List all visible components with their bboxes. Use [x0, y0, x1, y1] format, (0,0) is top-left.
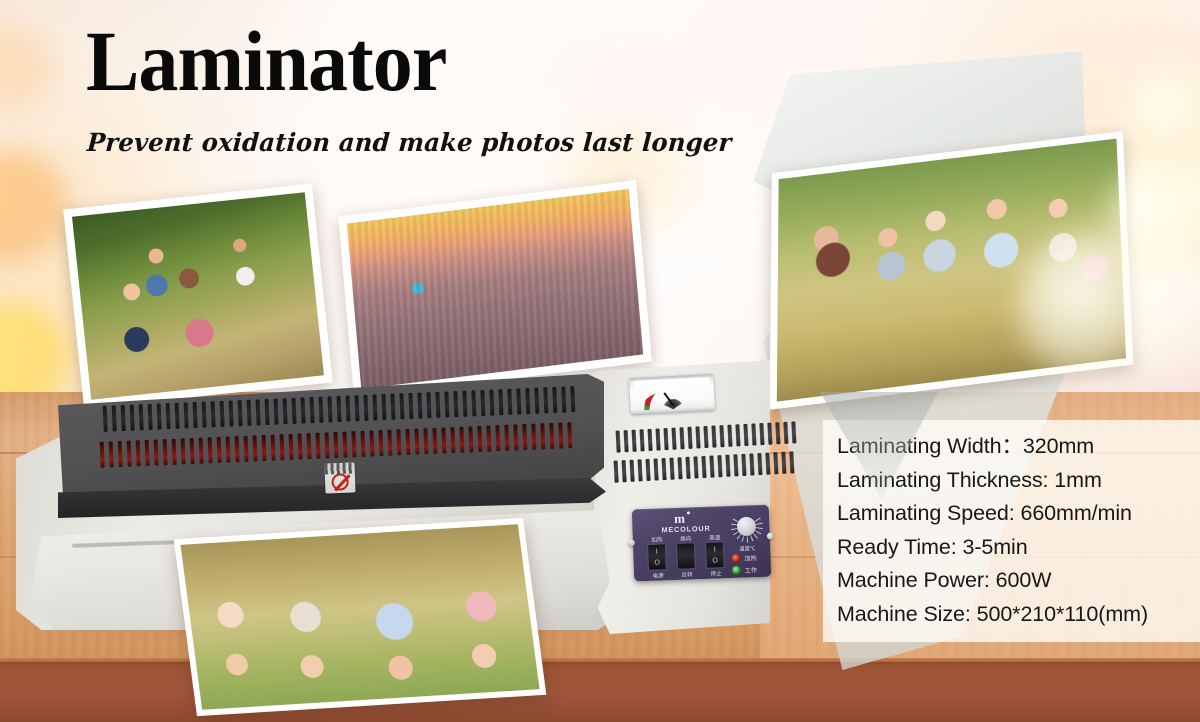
working-indicator-label: 工作: [745, 565, 757, 574]
stop-switch-on-mark: I: [714, 547, 716, 554]
family-pouch-photo-image: [777, 139, 1126, 402]
family-pouch-photo: [770, 131, 1134, 410]
heating-indicator-led: [731, 554, 740, 563]
control-panel[interactable]: m MECOLOUR 加热 换向 高温 I O I O 电源 反转 停止: [632, 505, 771, 582]
panel-screw-left: [628, 539, 635, 546]
panel-screw-right: [767, 532, 774, 539]
gauge-face: C: [633, 377, 710, 411]
working-indicator-led: [732, 566, 741, 575]
family-output-photo: [174, 518, 547, 716]
spec-laminating-speed: Laminating Speed: 660mm/min: [837, 497, 1200, 531]
product-banner: Laminator Prevent oxidation and make pho…: [0, 0, 1200, 722]
switch-label-reverse-bottom: 反转: [676, 570, 698, 579]
stop-switch[interactable]: I O: [705, 541, 725, 569]
power-switch[interactable]: I O: [647, 543, 667, 571]
spec-ready-time: Ready Time: 3-5min: [837, 531, 1200, 565]
warning-sticker: [324, 462, 355, 493]
page-title: Laminator: [86, 18, 446, 104]
power-switch-on-mark: I: [656, 549, 658, 556]
switch-label-power-bottom: 电源: [647, 571, 669, 580]
family-output-photo-image: [180, 524, 539, 710]
temperature-dial[interactable]: [729, 509, 764, 544]
page-subtitle: Prevent oxidation and make photos last l…: [86, 128, 733, 157]
power-switch-off-mark: O: [654, 559, 660, 566]
reverse-switch[interactable]: [676, 542, 696, 570]
brand-logo-mark: [687, 511, 690, 514]
switch-label-stop-bottom: 停止: [705, 569, 727, 578]
brand-name-label: MECOLOUR: [661, 524, 710, 535]
spec-machine-power: Machine Power: 600W: [837, 564, 1200, 598]
heating-indicator-label: 加热: [744, 553, 756, 562]
spec-machine-size: Machine Size: 500*210*110(mm): [837, 598, 1200, 632]
no-touch-icon: [331, 473, 349, 491]
stop-switch-off-mark: O: [712, 557, 718, 564]
table-front-edge: [0, 662, 1200, 722]
temperature-gauge: C: [629, 374, 715, 414]
dial-label: 温度℃: [734, 544, 760, 553]
